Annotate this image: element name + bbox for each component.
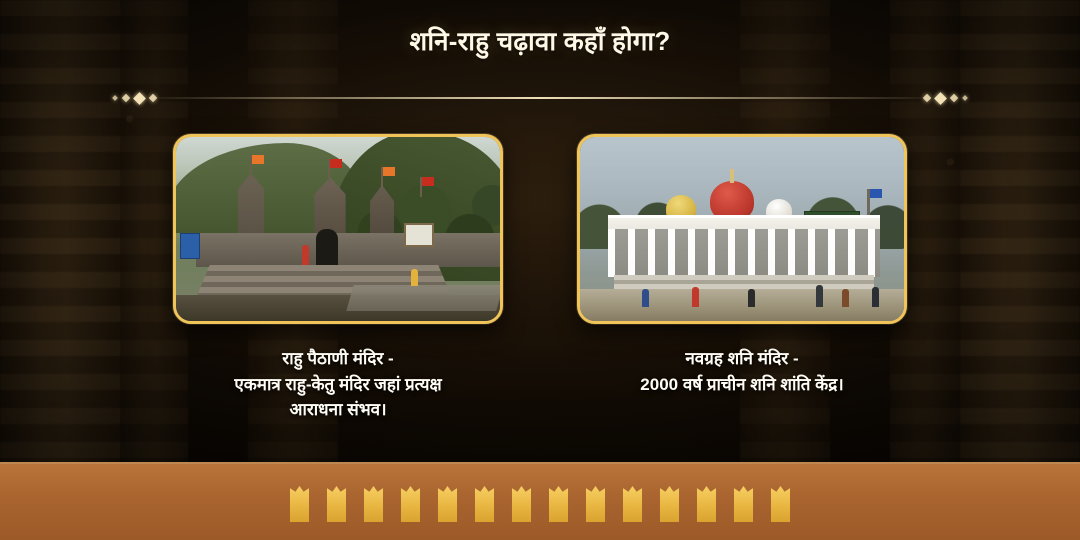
rahu-paithani-caption: राहु पैठाणी मंदिर - एकमात्र राहु-केतु मं… — [173, 346, 503, 423]
bunting-pennant-icon — [616, 486, 650, 522]
caption-line: 2000 वर्ष प्राचीन शनि शांति केंद्र। — [577, 372, 907, 398]
bunting-pennant-icon — [394, 486, 428, 522]
bunting-pennant-icon — [579, 486, 613, 522]
caption-line: राहु पैठाणी मंदिर - — [173, 346, 503, 372]
bunting-pennant-icon — [653, 486, 687, 522]
ornamental-divider — [110, 86, 970, 110]
bunting-pennant-icon — [505, 486, 539, 522]
page-title: शनि-राहु चढ़ावा कहाँ होगा? — [0, 22, 1080, 58]
caption-line: एकमात्र राहु-केतु मंदिर जहां प्रत्यक्ष — [173, 372, 503, 398]
bunting-pennant-icon — [690, 486, 724, 522]
navagraha-shani-caption: नवग्रह शनि मंदिर - 2000 वर्ष प्राचीन शनि… — [577, 346, 907, 397]
rahu-paithani-mandir-photo — [173, 134, 503, 324]
caption-line: आराधना संभव। — [173, 397, 503, 423]
divider-line — [159, 97, 921, 99]
diamond-ornament-icon-right — [921, 94, 970, 103]
bunting-decoration — [0, 486, 1080, 522]
bunting-pennant-icon — [283, 486, 317, 522]
temple-card-navagraha-shani: नवग्रह शनि मंदिर - 2000 वर्ष प्राचीन शनि… — [577, 134, 907, 423]
bunting-pennant-icon — [468, 486, 502, 522]
temple-cards-row: राहु पैठाणी मंदिर - एकमात्र राहु-केतु मं… — [0, 134, 1080, 423]
poster-canvas: शनि-राहु चढ़ावा कहाँ होगा? — [0, 0, 1080, 540]
bunting-pennant-icon — [357, 486, 391, 522]
diamond-ornament-icon-left — [110, 94, 159, 103]
bunting-pennant-icon — [764, 486, 798, 522]
page-title-container: शनि-राहु चढ़ावा कहाँ होगा? — [0, 22, 1080, 58]
footer-bar — [0, 462, 1080, 540]
caption-line: नवग्रह शनि मंदिर - — [577, 346, 907, 372]
bunting-pennant-icon — [542, 486, 576, 522]
bunting-pennant-icon — [727, 486, 761, 522]
temple-card-rahu-paithani: राहु पैठाणी मंदिर - एकमात्र राहु-केतु मं… — [173, 134, 503, 423]
bunting-pennant-icon — [431, 486, 465, 522]
bunting-pennant-icon — [320, 486, 354, 522]
navagraha-shani-mandir-photo — [577, 134, 907, 324]
